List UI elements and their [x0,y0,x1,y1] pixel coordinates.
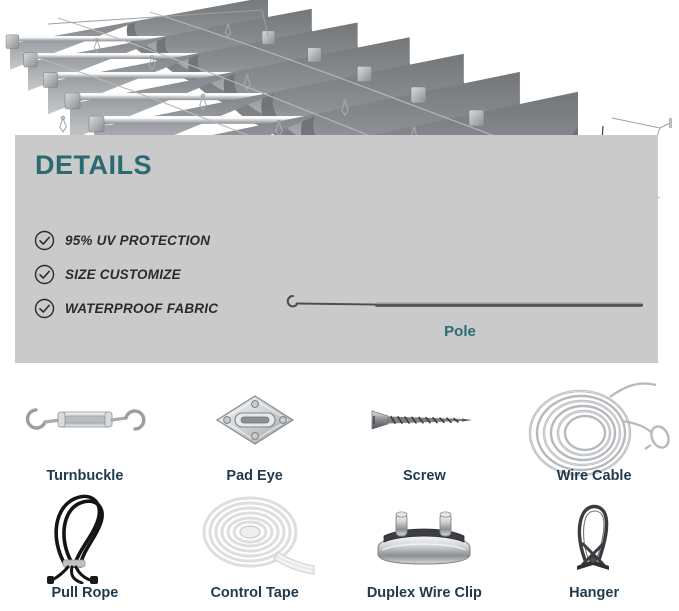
accessory-row: Pull Rope [0,489,679,606]
accessory-item-turnbuckle: Turnbuckle [0,372,170,489]
feature-label: WATERPROOF FABRIC [65,301,218,316]
feature-label: 95% UV PROTECTION [65,233,210,248]
pole-figure: Pole [270,285,650,355]
accessory-item-pad-eye: Pad Eye [170,372,340,489]
accessory-label: Duplex Wire Clip [367,584,482,602]
accessory-label: Hanger [569,584,619,602]
details-panel: DETAILS 95% UV PROTECTION SIZE CUSTOMIZE [15,135,658,363]
accessory-item-pull-rope: Pull Rope [0,489,170,606]
pole-label: Pole [270,323,650,340]
accessory-item-control-tape: Control Tape [170,489,340,606]
accessory-grid: Turnbuckle [0,372,679,611]
check-circle-icon [34,264,55,285]
accessory-item-wire-cable: Wire Cable [509,372,679,489]
control-tape-icon [170,488,340,584]
duplex-wire-clip-icon [340,489,510,584]
wire-cable-icon [509,372,679,467]
pole-rod-icon [270,285,650,317]
feature-label: SIZE CUSTOMIZE [65,267,181,282]
accessory-label: Pad Eye [226,467,282,485]
screw-icon [340,372,510,467]
page-title: DETAILS [35,150,152,181]
check-circle-icon [34,298,55,319]
accessory-label: Pull Rope [51,584,118,602]
accessory-item-screw: Screw [340,372,510,489]
pad-eye-icon [170,372,340,467]
accessory-label: Screw [403,467,446,485]
accessory-row: Turnbuckle [0,372,679,489]
check-circle-icon [34,230,55,251]
anchor-turnbuckle-icon [660,118,672,128]
pull-rope-icon [0,488,170,584]
turnbuckle-icon [0,372,170,467]
accessory-label: Wire Cable [557,467,632,485]
accessory-label: Turnbuckle [46,467,123,485]
accessory-label: Control Tape [210,584,298,602]
accessory-item-hanger: Hanger [509,489,679,606]
accessory-item-duplex-wire-clip: Duplex Wire Clip [340,489,510,606]
feature-item-uv-protection: 95% UV PROTECTION [34,225,334,256]
hanger-icon [509,489,679,584]
